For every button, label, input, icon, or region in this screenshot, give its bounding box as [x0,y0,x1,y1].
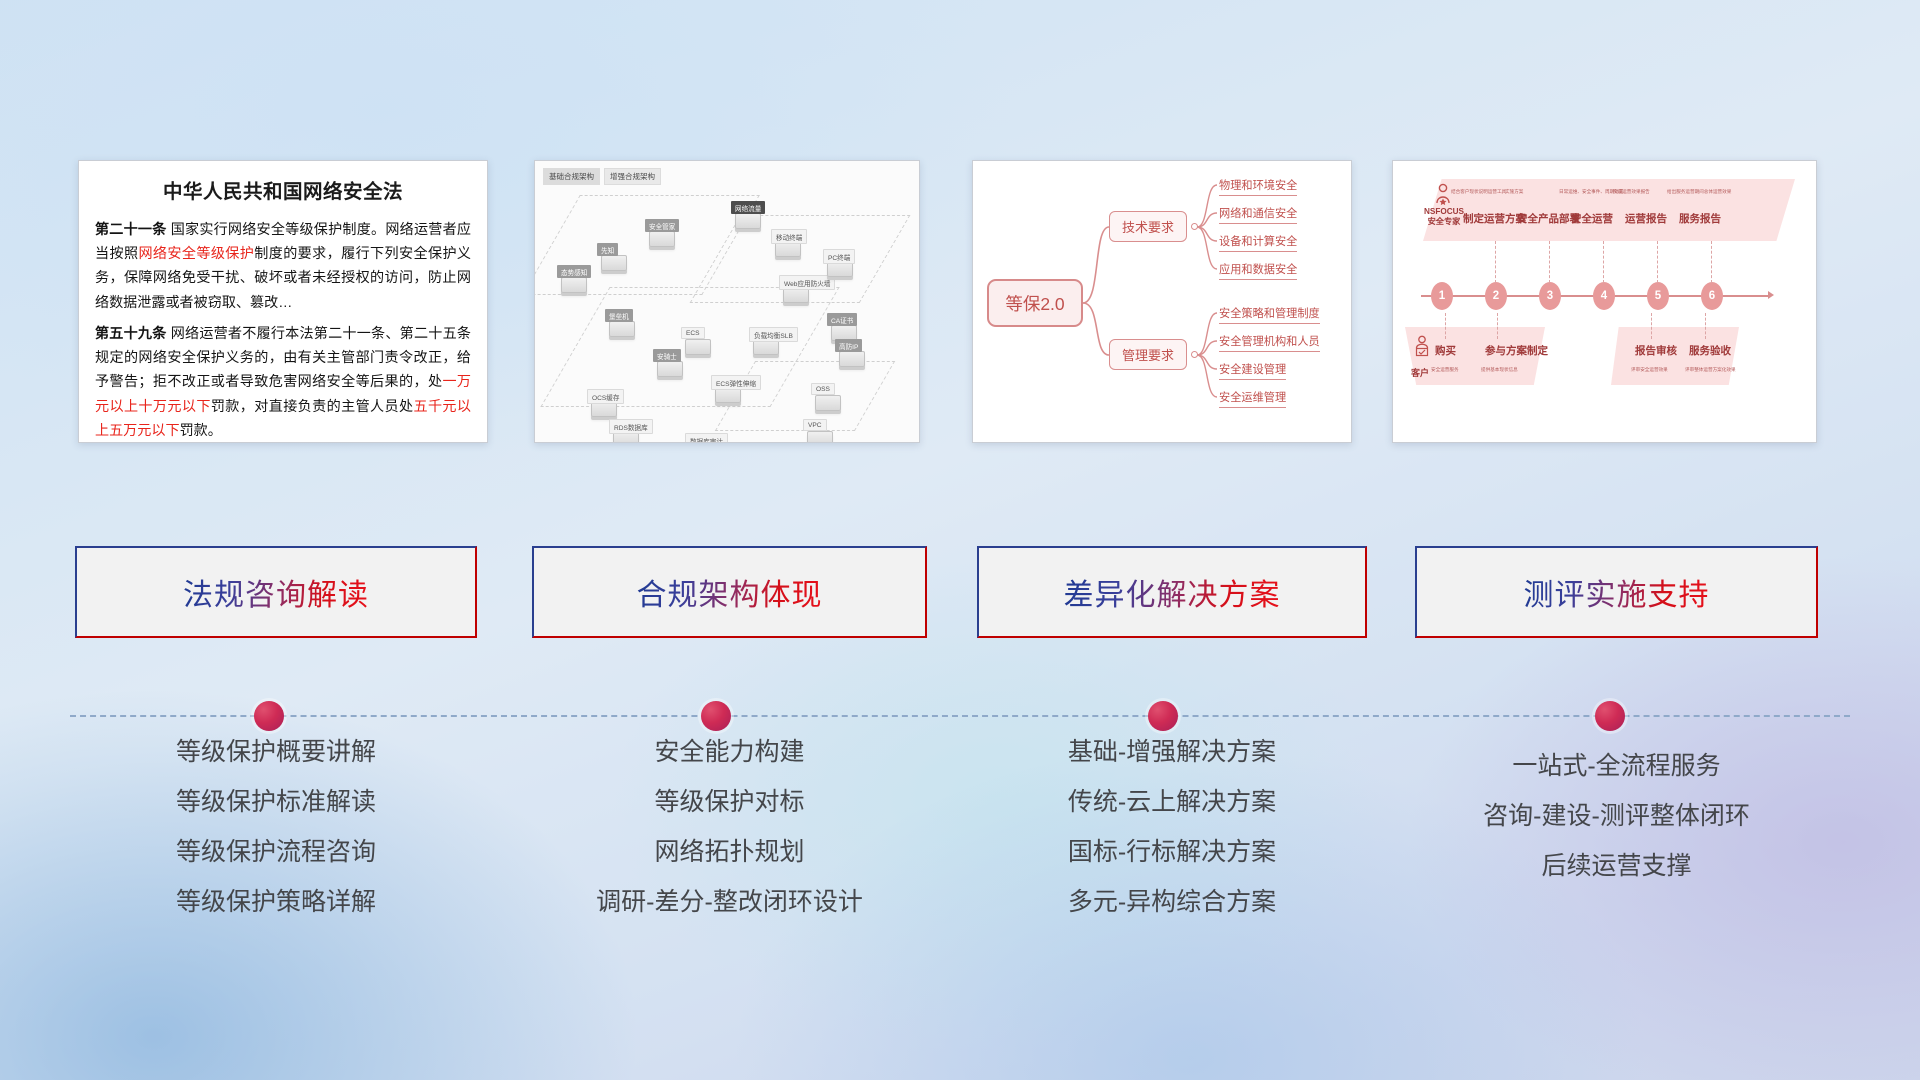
architecture-node-label[interactable]: CA证书 [827,313,857,326]
brand-line-2: 安全专家 [1419,217,1469,227]
law-body-text: 罚款。 [180,422,222,438]
timeline-customer-step-title[interactable]: 购买 [1435,343,1456,358]
mindmap-leaf[interactable]: 设备和计算安全 [1219,233,1297,252]
mindmap-branch-management: 管理要求 [1109,339,1187,370]
architecture-node-label[interactable]: VPC [803,419,827,431]
detail-item: 多元-异构综合方案 [977,890,1367,915]
law-article-number: 第二十一条 [95,221,167,237]
law-body-text: 罚款，对直接负责的主管人员处 [211,398,414,414]
rail-dot-2[interactable] [701,701,731,731]
architecture-node-shape [561,277,587,293]
banner-compliance-architecture[interactable]: 合规架构体现 [532,546,927,638]
detail-item: 等级保护对标 [532,790,927,815]
timeline-connector [1705,313,1706,339]
mindmap-collapse-dot[interactable] [1191,223,1198,230]
timeline-connector [1603,241,1604,283]
card-dengbao-mindmap[interactable]: 等保2.0 技术要求 管理要求 物理和环境安全网络和通信安全设备和计算安全应用和… [972,160,1352,443]
architecture-diagram: 基础合规架构 增强合规架构 态势感知先知安全管家网络流量堡垒机安骑士OCS缓存R… [535,161,919,442]
timeline-node-1[interactable]: 1 [1431,282,1453,310]
architecture-node-label[interactable]: 安全管家 [645,219,679,232]
card-cloud-architecture[interactable]: 基础合规架构 增强合规架构 态势感知先知安全管家网络流量堡垒机安骑士OCS缓存R… [534,160,920,443]
mindmap-root: 等保2.0 [987,279,1083,327]
timeline-node-4[interactable]: 4 [1593,282,1615,310]
architecture-node-label[interactable]: 负载均衡SLB [749,327,798,342]
timeline-connector [1711,241,1712,283]
detail-column-4: 一站式-全流程服务咨询-建设-测评整体闭环后续运营支撑 [1415,740,1818,904]
banner-differentiated-solution[interactable]: 差异化解决方案 [977,546,1367,638]
banner-label: 测评实施支持 [1524,570,1710,614]
detail-item: 等级保护流程咨询 [75,840,477,865]
law-title: 中华人民共和国网络安全法 [95,175,471,204]
architecture-node-label[interactable]: RDS数据库 [609,419,653,434]
security-expert-icon [1433,183,1453,207]
card-nsfocus-timeline[interactable]: NSFOCUS 安全专家 客户 123456 结合客户现状说明运营工具制定运营方… [1392,160,1817,443]
architecture-node-label[interactable]: OCS缓存 [587,389,624,404]
banner-label: 法规咨询解读 [183,570,369,614]
banner-regulation-consulting[interactable]: 法规咨询解读 [75,546,477,638]
detail-item: 一站式-全流程服务 [1415,754,1818,779]
timeline-step-title[interactable]: 服务报告 [1679,211,1721,226]
operations-timeline: NSFOCUS 安全专家 客户 123456 结合客户现状说明运营工具制定运营方… [1393,161,1816,442]
detail-item: 国标-行标解决方案 [977,840,1367,865]
card-cybersecurity-law[interactable]: 中华人民共和国网络安全法 第二十一条 国家实行网络安全等级保护制度。网络运营者应… [78,160,488,443]
timeline-node-3[interactable]: 3 [1539,282,1561,310]
banner-assessment-support[interactable]: 测评实施支持 [1415,546,1818,638]
service-banner-row: 法规咨询解读 合规架构体现 差异化解决方案 测评实施支持 [0,546,1920,646]
timeline-customer-step-title[interactable]: 参与方案制定 [1485,343,1548,358]
architecture-node-label[interactable]: 安骑士 [653,349,681,362]
detail-item: 后续运营支撑 [1415,854,1818,879]
mindmap-leaf[interactable]: 安全管理机构和人员 [1219,333,1320,352]
detail-columns-row: 等级保护概要讲解等级保护标准解读等级保护流程咨询等级保护策略详解 安全能力构建等… [0,740,1920,970]
timeline-step-title[interactable]: 安全运营 [1571,211,1613,226]
timeline-customer-step-subtitle: 评审安全运营效果 [1631,367,1668,373]
detail-item: 传统-云上解决方案 [977,790,1367,815]
mindmap-leaf[interactable]: 安全建设管理 [1219,361,1286,380]
architecture-node-label[interactable]: ECS弹性伸缩 [711,375,761,390]
architecture-node-label[interactable]: 堡垒机 [605,309,633,322]
timeline-connector [1495,241,1496,283]
architecture-node-shape [609,321,635,337]
mindmap-leaf[interactable]: 物理和环境安全 [1219,177,1297,196]
architecture-node-label[interactable]: PC终端 [823,249,855,264]
banner-label: 差异化解决方案 [1064,570,1281,614]
timeline-connector [1549,241,1550,283]
mindmap-leaf[interactable]: 安全策略和管理制度 [1219,305,1320,324]
architecture-node-shape [649,231,675,247]
timeline-node-2[interactable]: 2 [1485,282,1507,310]
architecture-node-label[interactable]: OSS [811,383,835,395]
detail-item: 调研-差分-整改闭环设计 [532,890,927,915]
architecture-node-label[interactable]: 网络流量 [731,201,765,214]
detail-item: 咨询-建设-测评整体闭环 [1415,804,1818,829]
reference-cards-row: 中华人民共和国网络安全法 第二十一条 国家实行网络安全等级保护制度。网络运营者应… [0,150,1920,440]
detail-column-3: 基础-增强解决方案传统-云上解决方案国标-行标解决方案多元-异构综合方案 [977,740,1367,940]
architecture-node-shape [807,431,833,443]
detail-column-1: 等级保护概要讲解等级保护标准解读等级保护流程咨询等级保护策略详解 [75,740,477,940]
architecture-node-label[interactable]: 先知 [597,243,618,256]
law-paragraph: 第二十一条 国家实行网络安全等级保护制度。网络运营者应当按照网络安全等级保护制度… [95,217,471,314]
mindmap-branch-technical: 技术要求 [1109,211,1187,242]
timeline-customer-step-subtitle: 评审整体运营方案化效果 [1685,367,1736,373]
architecture-node-shape [657,361,683,377]
law-article-number: 第五十九条 [95,325,167,341]
law-highlight-text: 网络安全等级保护 [138,245,254,261]
timeline-connector [1651,313,1652,339]
detail-column-2: 安全能力构建等级保护对标网络拓扑规划调研-差分-整改闭环设计 [532,740,927,940]
timeline-connector [1497,313,1498,339]
architecture-node-shape [685,339,711,355]
detail-item: 等级保护策略详解 [75,890,477,915]
timeline-arrow-icon [1768,291,1774,299]
detail-item: 安全能力构建 [532,740,927,765]
nsfocus-brand: NSFOCUS 安全专家 [1419,207,1469,228]
law-paragraph: 第五十九条 网络运营者不履行本法第二十一条、第二十五条规定的网络安全保护义务的，… [95,321,471,442]
tab-enhanced-architecture[interactable]: 增强合规架构 [604,168,661,185]
architecture-node-shape [839,351,865,367]
detail-item: 等级保护概要讲解 [75,740,477,765]
timeline-connector [1657,241,1658,283]
customer-label: 客户 [1411,366,1429,379]
banner-label: 合规架构体现 [637,570,823,614]
rail-dot-3[interactable] [1148,701,1178,731]
architecture-node-label[interactable]: 态势感知 [557,265,591,278]
mindmap: 等保2.0 技术要求 管理要求 物理和环境安全网络和通信安全设备和计算安全应用和… [973,161,1351,442]
architecture-node-shape [601,255,627,271]
timeline-customer-step-subtitle: 提供基本现状信息 [1481,367,1518,373]
timeline-step-subtitle: 给出服务运营期间总体运营效果 [1667,189,1731,195]
customer-icon [1413,335,1431,359]
rail-dot-1[interactable] [254,701,284,731]
architecture-node-label[interactable]: 数据库审计 [685,433,728,443]
timeline-step-title[interactable]: 运营报告 [1625,211,1667,226]
brand-line-1: NSFOCUS [1419,207,1469,217]
architecture-node-label[interactable]: 高防IP [835,339,862,352]
mindmap-leaf[interactable]: 应用和数据安全 [1219,261,1297,280]
rail-dashed-line [70,715,1850,717]
timeline-step-subtitle: 结合客户现状说明运营工具 [1451,189,1506,195]
mindmap-collapse-dot[interactable] [1191,351,1198,358]
mindmap-leaf[interactable]: 网络和通信安全 [1219,205,1297,224]
timeline-node-5[interactable]: 5 [1647,282,1669,310]
architecture-node-shape [815,395,841,411]
architecture-tabs[interactable]: 基础合规架构 增强合规架构 [543,168,661,185]
timeline-step-subtitle: 实施方案 [1505,189,1523,195]
timeline-customer-step-title[interactable]: 服务验收 [1689,343,1731,358]
detail-item: 基础-增强解决方案 [977,740,1367,765]
timeline-step-subtitle: 阶段运营效果报告 [1613,189,1650,195]
architecture-node-label[interactable]: 移动终端 [771,229,807,244]
timeline-connector [1445,313,1446,339]
tab-basic-architecture[interactable]: 基础合规架构 [543,168,600,185]
architecture-node-label[interactable]: ECS [681,327,705,339]
rail-dot-4[interactable] [1595,701,1625,731]
architecture-node-label[interactable]: Web应用防火墙 [779,275,835,290]
architecture-node-shape [735,213,761,229]
detail-item: 网络拓扑规划 [532,840,927,865]
process-rail [0,694,1920,738]
timeline-node-6[interactable]: 6 [1701,282,1723,310]
timeline-customer-step-subtitle: 安全运营服务 [1431,367,1459,373]
detail-item: 等级保护标准解读 [75,790,477,815]
timeline-customer-step-title[interactable]: 报告审核 [1635,343,1677,358]
mindmap-leaf[interactable]: 安全运维管理 [1219,389,1286,408]
